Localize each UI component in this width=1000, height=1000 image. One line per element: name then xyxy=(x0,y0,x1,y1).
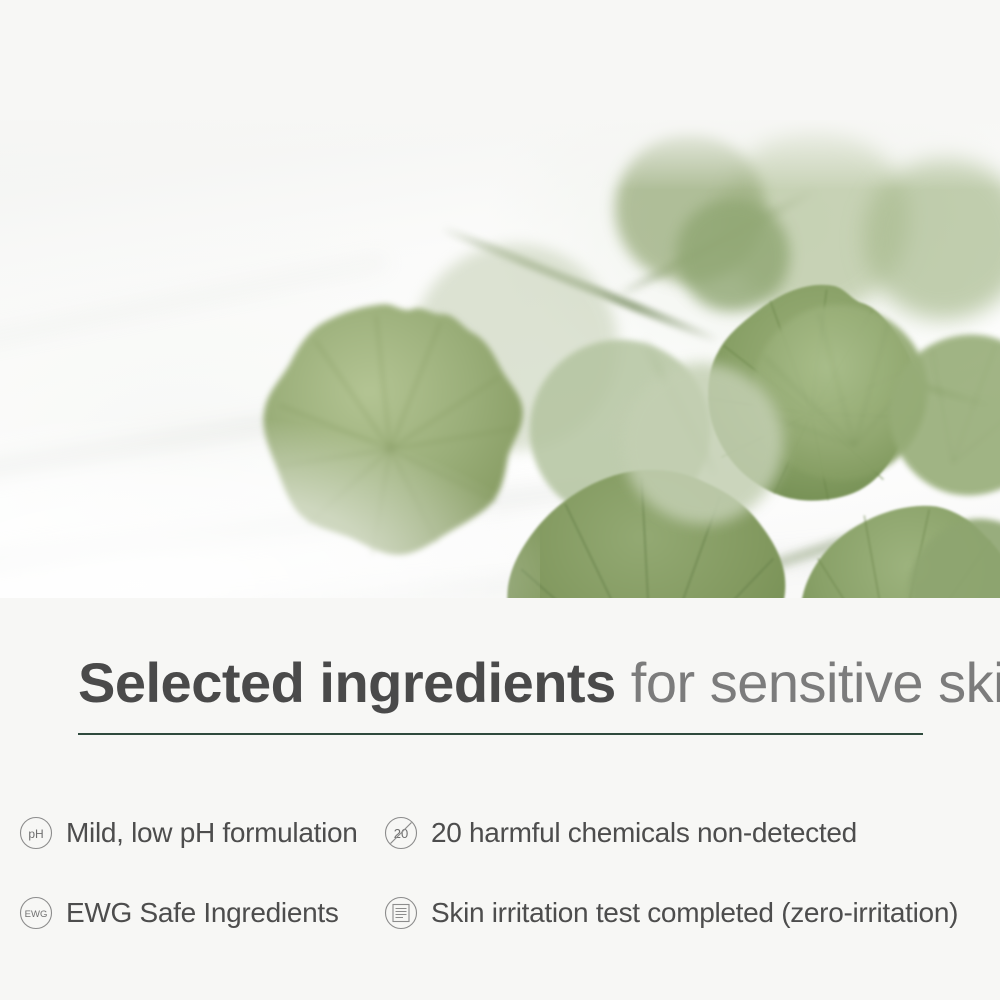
page-title-light: for sensitive skin xyxy=(616,651,1000,714)
feature-label: Mild, low pH formulation xyxy=(66,817,358,849)
heading-divider xyxy=(78,733,923,735)
document-report-icon xyxy=(383,895,419,931)
feature-item-twenty-chemicals: 20 20 harmful chemicals non-detected xyxy=(383,815,857,851)
ewg-circle-icon: EWG xyxy=(18,895,54,931)
feature-item-ph: pH Mild, low pH formulation xyxy=(18,815,383,851)
feature-label: EWG Safe Ingredients xyxy=(66,897,339,929)
feature-label: 20 harmful chemicals non-detected xyxy=(431,817,857,849)
svg-text:pH: pH xyxy=(28,827,43,841)
product-detail-page: Selected ingredients for sensitive skin … xyxy=(0,0,1000,1000)
page-title: Selected ingredients for sensitive skin xyxy=(78,655,928,711)
twenty-prohibited-icon: 20 xyxy=(383,815,419,851)
feature-label: Skin irritation test completed (zero-irr… xyxy=(431,897,958,929)
hero-image xyxy=(0,120,1000,598)
feature-item-ewg: EWG EWG Safe Ingredients xyxy=(18,895,383,931)
feature-row: EWG EWG Safe Ingredients Skin i xyxy=(18,873,984,953)
ph-circle-icon: pH xyxy=(18,815,54,851)
feature-list: pH Mild, low pH formulation 20 20 harmfu… xyxy=(18,793,984,953)
feature-row: pH Mild, low pH formulation 20 20 harmfu… xyxy=(18,793,984,873)
photo-top-fade xyxy=(0,120,1000,190)
cloth-highlight xyxy=(0,420,540,598)
svg-text:EWG: EWG xyxy=(25,909,48,920)
page-title-strong: Selected ingredients xyxy=(78,651,616,714)
section-heading-block: Selected ingredients for sensitive skin xyxy=(78,655,928,735)
leaf-shape xyxy=(604,343,802,545)
feature-item-skin-irritation-test: Skin irritation test completed (zero-irr… xyxy=(383,895,958,931)
